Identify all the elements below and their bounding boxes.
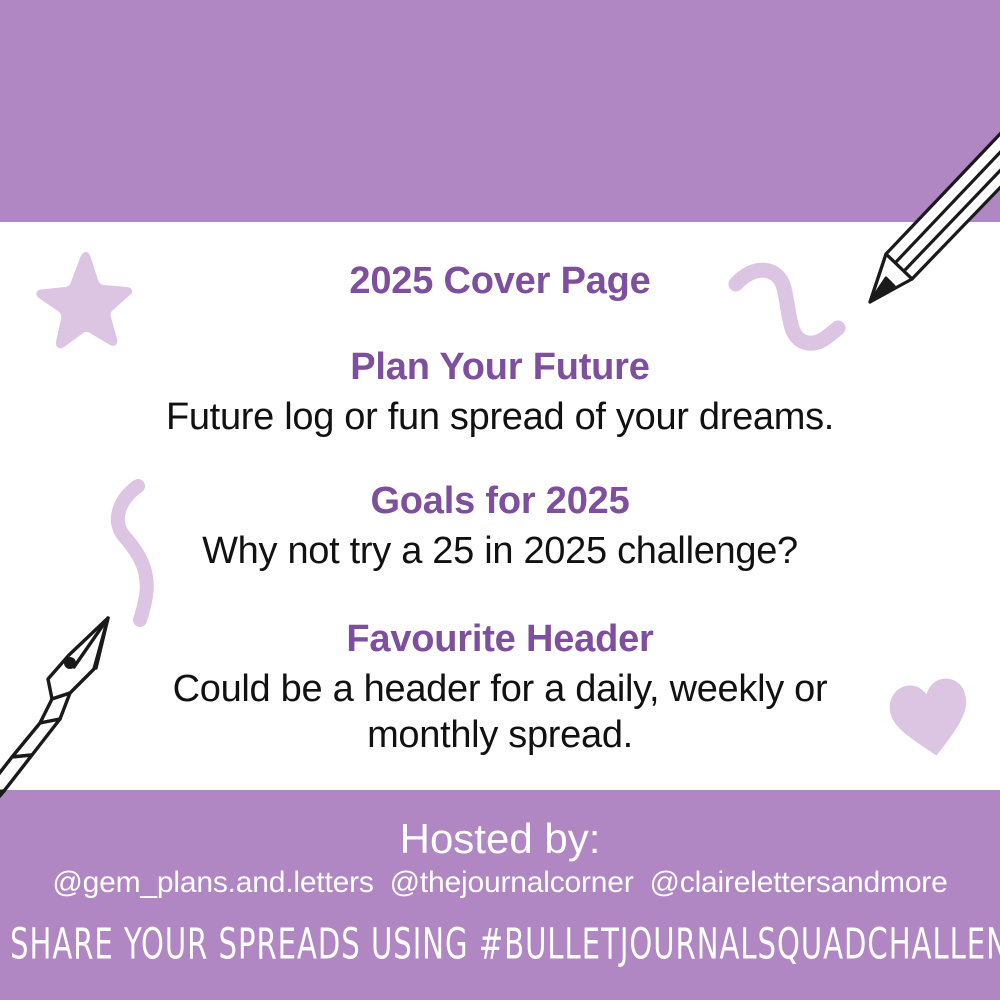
host-handles: @gem_plans.and.letters@thejournalcorner@…: [0, 866, 1000, 900]
prompt-item: Plan Your Future Future log or fun sprea…: [0, 346, 1000, 440]
host-handle[interactable]: @gem_plans.and.letters: [52, 866, 373, 899]
prompt-title: Goals for 2025: [0, 480, 1000, 524]
pencil-illustration: [800, 90, 1000, 340]
prompt-description: Could be a header for a daily, weekly or…: [140, 666, 860, 759]
fountain-pen-illustration: [0, 595, 200, 845]
poster-canvas: BULLET JOURNAL SQUAD CHALLENGE January 2…: [0, 0, 1000, 1000]
prompt-item: Goals for 2025 Why not try a 25 in 2025 …: [0, 480, 1000, 574]
prompt-description: Future log or fun spread of your dreams.: [0, 394, 1000, 440]
share-hashtag-line: SHARE YOUR SPREADS USING #BULLETJOURNALS…: [10, 918, 990, 969]
prompt-title: Plan Your Future: [0, 346, 1000, 390]
host-handle[interactable]: @thejournalcorner: [390, 866, 634, 899]
prompt-description: Why not try a 25 in 2025 challenge?: [0, 528, 1000, 574]
host-handle[interactable]: @clairelettersandmore: [650, 866, 948, 899]
